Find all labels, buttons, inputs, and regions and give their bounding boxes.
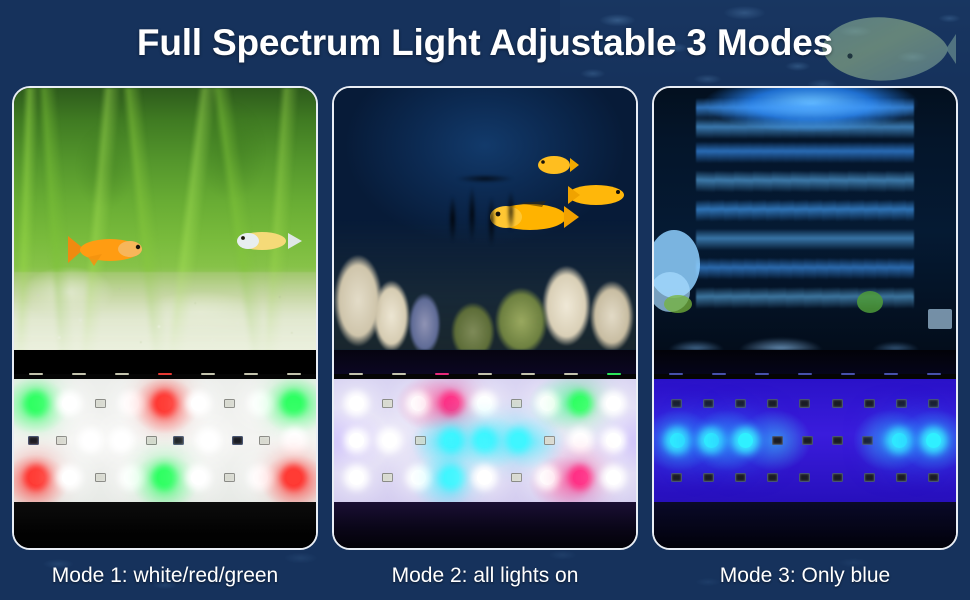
edge-dot xyxy=(287,373,301,375)
led-chip-unlit xyxy=(896,399,907,408)
edge-dot xyxy=(607,373,621,375)
led-chip-unlit xyxy=(896,473,907,482)
led-chip-unlit xyxy=(173,436,184,445)
led-row xyxy=(654,422,956,459)
led-lamp-cyan xyxy=(444,433,459,448)
led-housing-top xyxy=(654,350,956,374)
led-chip-unlit xyxy=(95,473,106,482)
led-chip-unlit xyxy=(511,473,522,482)
edge-dot xyxy=(712,373,726,375)
edge-dot xyxy=(841,373,855,375)
mode-1-led-bar xyxy=(14,350,316,550)
led-edge-highlights xyxy=(654,372,956,376)
led-face xyxy=(14,379,316,502)
led-row xyxy=(14,459,316,496)
edge-dot xyxy=(564,373,578,375)
led-chip-unlit xyxy=(928,473,939,482)
led-lamp-blue xyxy=(892,433,907,448)
led-chip-unlit xyxy=(671,399,682,408)
led-lamp-white xyxy=(201,433,216,448)
led-chip-unlit xyxy=(864,473,875,482)
led-chip-unlit xyxy=(767,473,778,482)
edge-dot xyxy=(478,373,492,375)
led-chip-unlit xyxy=(382,473,393,482)
led-lamp-white xyxy=(253,470,268,485)
mode-2-photo xyxy=(334,88,636,350)
led-chip-unlit xyxy=(703,399,714,408)
small-yellow-fish-icon xyxy=(530,150,580,180)
led-housing-bottom xyxy=(334,502,636,550)
led-lamp-red xyxy=(157,396,172,411)
led-housing-bottom xyxy=(654,502,956,550)
mode-3-caption: Mode 3: Only blue xyxy=(652,552,958,600)
planted-aquarium-image xyxy=(14,88,316,350)
edge-dot xyxy=(884,373,898,375)
led-row xyxy=(334,459,636,496)
led-face xyxy=(654,379,956,502)
led-lamp-blue xyxy=(670,433,685,448)
led-row xyxy=(334,385,636,422)
led-chip-unlit xyxy=(224,399,235,408)
edge-dot xyxy=(927,373,941,375)
led-grid xyxy=(14,379,316,502)
led-lamp-blue xyxy=(926,433,941,448)
led-lamp-white xyxy=(606,433,621,448)
yellow-fish-icon xyxy=(232,224,304,258)
edge-dot xyxy=(798,373,812,375)
led-grid xyxy=(334,379,636,502)
led-row xyxy=(654,459,956,496)
led-chip-unlit xyxy=(832,473,843,482)
led-lamp-white xyxy=(540,470,555,485)
led-lamp-white xyxy=(62,470,77,485)
led-chip-unlit xyxy=(772,436,783,445)
edge-dot xyxy=(435,373,449,375)
led-chip-unlit xyxy=(95,399,106,408)
led-row xyxy=(14,422,316,459)
led-chip-unlit xyxy=(671,473,682,482)
led-lamp-white xyxy=(606,396,621,411)
led-row xyxy=(14,385,316,422)
edge-dot xyxy=(392,373,406,375)
led-chip-unlit xyxy=(146,436,157,445)
mode-captions-row: Mode 1: white/red/green Mode 2: all ligh… xyxy=(12,552,958,600)
edge-dot xyxy=(349,373,363,375)
edge-dot xyxy=(29,373,43,375)
led-lamp-white xyxy=(382,433,397,448)
led-chip-unlit xyxy=(832,399,843,408)
led-housing-bottom xyxy=(14,502,316,550)
edge-dot xyxy=(669,373,683,375)
led-row xyxy=(334,422,636,459)
blue-coral-icon xyxy=(654,218,712,314)
led-lamp-white xyxy=(83,433,98,448)
edge-dot xyxy=(201,373,215,375)
mode-1-caption: Mode 1: white/red/green xyxy=(12,552,318,600)
led-chip-unlit xyxy=(511,399,522,408)
led-lamp-white xyxy=(349,470,364,485)
led-lamp-red xyxy=(29,470,44,485)
mode-3-photo xyxy=(654,88,956,350)
edge-dot xyxy=(158,373,172,375)
led-chip-unlit xyxy=(799,473,810,482)
led-lamp-white xyxy=(62,396,77,411)
led-lamp-green xyxy=(573,396,588,411)
led-lamp-white xyxy=(124,470,139,485)
mode-2-caption: Mode 2: all lights on xyxy=(332,552,638,600)
led-chip-unlit xyxy=(802,436,813,445)
led-chip-unlit xyxy=(28,436,39,445)
led-lamp-white xyxy=(573,433,588,448)
edge-dot xyxy=(755,373,769,375)
yellow-cichlid-icon xyxy=(562,178,634,212)
led-lamp-white xyxy=(477,396,492,411)
mode-panel-2[interactable] xyxy=(332,86,638,550)
led-row xyxy=(654,385,956,422)
led-chip-unlit xyxy=(232,436,243,445)
mode-panels-row xyxy=(12,86,958,550)
led-lamp-white xyxy=(287,433,302,448)
led-chip-unlit xyxy=(703,473,714,482)
led-edge-highlights xyxy=(334,372,636,376)
led-lamp-green xyxy=(29,396,44,411)
mode-3-led-bar xyxy=(654,350,956,550)
reef-aquarium-image xyxy=(334,88,636,350)
led-chip-unlit xyxy=(544,436,555,445)
led-lamp-pink xyxy=(573,470,588,485)
led-chip-unlit xyxy=(928,399,939,408)
led-chip-unlit xyxy=(767,399,778,408)
led-lamp-white xyxy=(124,396,139,411)
led-chip-unlit xyxy=(799,399,810,408)
led-chip-unlit xyxy=(864,399,875,408)
led-chip-unlit xyxy=(224,473,235,482)
led-lamp-red xyxy=(286,470,301,485)
led-lamp-green xyxy=(286,396,301,411)
led-housing xyxy=(14,374,316,502)
bubble-curtain-image xyxy=(654,88,956,350)
led-face xyxy=(334,379,636,502)
edge-dot xyxy=(115,373,129,375)
led-lamp-cyan xyxy=(511,433,526,448)
led-lamp-white xyxy=(191,396,206,411)
orange-fish-icon xyxy=(62,230,150,270)
led-lamp-white xyxy=(253,396,268,411)
page-title: Full Spectrum Light Adjustable 3 Modes xyxy=(0,0,970,86)
edge-dot xyxy=(72,373,86,375)
led-chip-unlit xyxy=(56,436,67,445)
led-lamp-pink xyxy=(444,396,459,411)
led-lamp-white xyxy=(411,470,426,485)
led-lamp-green xyxy=(157,470,172,485)
edge-dot xyxy=(244,373,258,375)
led-edge-highlights xyxy=(14,372,316,376)
led-housing xyxy=(334,374,636,502)
led-lamp-white xyxy=(477,470,492,485)
led-chip-unlit xyxy=(832,436,843,445)
led-lamp-white xyxy=(540,396,555,411)
mode-2-led-bar xyxy=(334,350,636,550)
led-housing xyxy=(654,374,956,502)
led-chip-unlit xyxy=(415,436,426,445)
led-lamp-cyan xyxy=(477,433,492,448)
mode-panel-1[interactable] xyxy=(12,86,318,550)
led-lamp-white xyxy=(191,470,206,485)
decor-cube-icon xyxy=(924,304,956,334)
led-lamp-white xyxy=(349,396,364,411)
led-housing-top xyxy=(14,350,316,374)
led-lamp-white xyxy=(349,433,364,448)
mode-panel-3[interactable] xyxy=(652,86,958,550)
led-lamp-white xyxy=(606,470,621,485)
edge-dot xyxy=(521,373,535,375)
led-chip-unlit xyxy=(862,436,873,445)
green-plant-icon xyxy=(850,284,890,318)
led-chip-unlit xyxy=(259,436,270,445)
led-grid xyxy=(654,379,956,502)
led-lamp-blue xyxy=(738,433,753,448)
mode-1-photo xyxy=(14,88,316,350)
led-lamp-white xyxy=(411,396,426,411)
led-lamp-blue xyxy=(704,433,719,448)
led-chip-unlit xyxy=(382,399,393,408)
led-housing-top xyxy=(334,350,636,374)
led-chip-unlit xyxy=(735,399,746,408)
led-lamp-cyan xyxy=(444,470,459,485)
led-lamp-white xyxy=(114,433,129,448)
led-chip-unlit xyxy=(735,473,746,482)
